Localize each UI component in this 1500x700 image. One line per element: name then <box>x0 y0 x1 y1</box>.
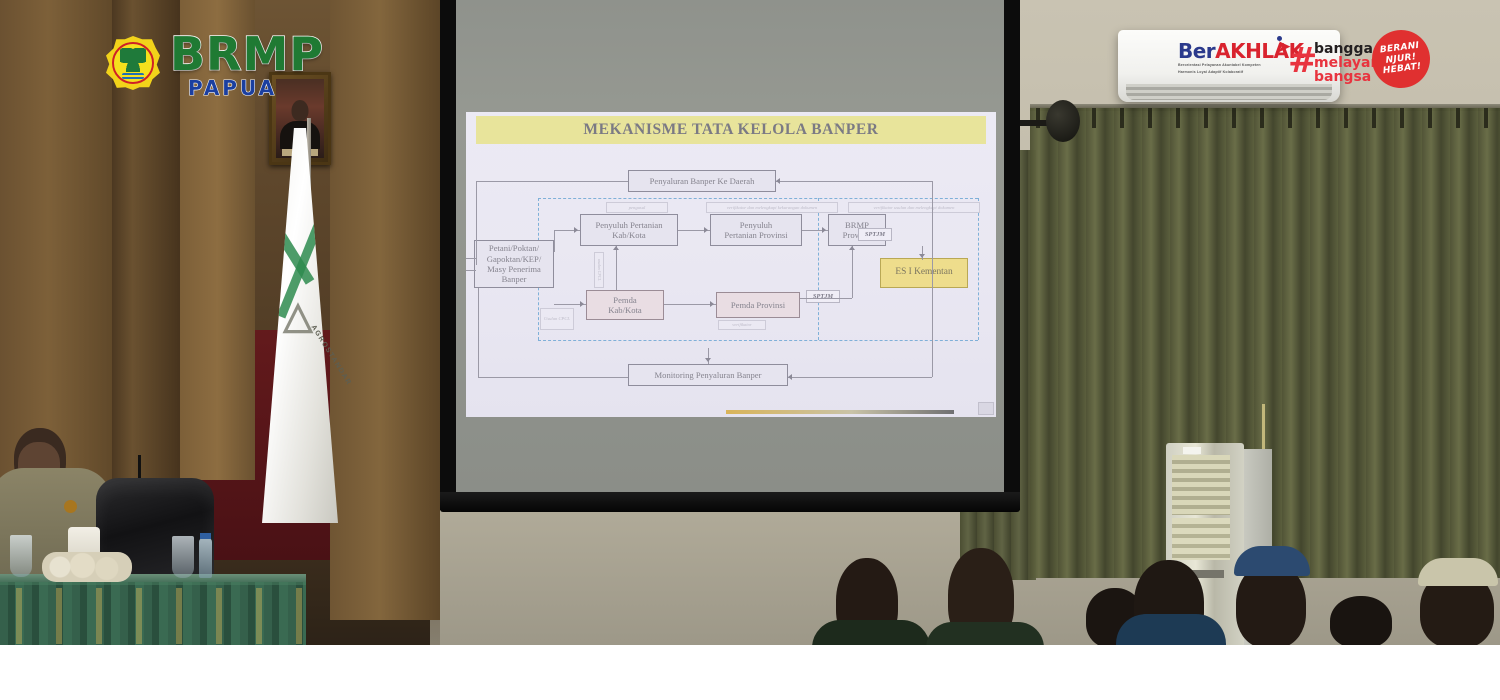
audience-cap-blue <box>1234 546 1310 576</box>
portrait-head <box>292 100 309 121</box>
arrow-to-penyuluh-kab <box>574 227 578 233</box>
screenshot-root: △ AGROSTANDAR MEKANISME TATA KELOLA BANP… <box>0 0 1500 700</box>
audience-head-7 <box>1330 596 1392 645</box>
standing-ac-sticker <box>1183 447 1201 454</box>
line-into-petani-2 <box>466 270 476 271</box>
flower-arrangement <box>42 552 132 582</box>
wood-panel-right <box>330 0 440 620</box>
dashed-divider-center <box>818 198 819 340</box>
line-into-petani <box>466 258 476 259</box>
line-pemda-kab-to-prov <box>664 304 716 305</box>
line-left-to-penyaluran <box>476 181 628 182</box>
note-usulan-cpcl: Usulan CPCL <box>540 308 574 330</box>
audience-body-1 <box>812 620 930 645</box>
water-bottle <box>199 538 212 578</box>
tag-sptjm-brmp: SPTJM <box>858 228 892 241</box>
line-left-down <box>476 181 477 265</box>
line-pemda-up-to-penyuluh <box>616 246 617 290</box>
logo-water-icon <box>122 73 144 79</box>
arrow-to-pemda-prov <box>710 301 714 307</box>
berakhlak-badge: BerAKHLAK ➤ Berorientasi Pelayanan Akunt… <box>1178 41 1284 81</box>
water-bottle-cap <box>200 533 211 539</box>
slide-title: MEKANISME TATA KELOLA BANPER <box>583 121 878 139</box>
table-cloth-motif <box>0 588 306 644</box>
uniform-badge <box>64 500 77 513</box>
arrow-into-monitoring-right <box>788 374 792 380</box>
footer-bar: AGRO MODERN Pertanian Bekerja Sepenuh Ha… <box>0 645 1500 700</box>
wall-fan-icon <box>1046 100 1080 142</box>
note-usulan-cpcl-vertical: usulan CPCL <box>594 252 604 288</box>
line-up-to-brmp <box>852 246 853 298</box>
arrow-to-penyuluh-prov <box>704 227 708 233</box>
diagram-box-es1-kementan: ES I Kementan <box>880 258 968 288</box>
slide-corner-button <box>978 402 994 415</box>
arrow-into-brmp <box>849 246 855 250</box>
line-bottom-left <box>478 377 628 378</box>
ministry-agriculture-logo-icon <box>106 36 160 90</box>
slide-accent-bar <box>726 410 954 414</box>
line-right-down <box>932 181 933 377</box>
presentation-slide: MEKANISME TATA KELOLA BANPER Penyaluran … <box>466 112 996 417</box>
audience-cap-beige <box>1418 558 1498 586</box>
arrow-into-es1 <box>919 254 925 258</box>
audience-body-2 <box>926 622 1044 645</box>
line-bottom-right <box>788 377 932 378</box>
brand-subtitle: PAPUA <box>188 76 277 100</box>
berakhlak-wordmark: BerAKHLAK ➤ <box>1178 41 1284 61</box>
berakhlak-prefix: Ber <box>1178 39 1215 63</box>
diagram-box-monitoring: Monitoring Penyaluran Banper <box>628 364 788 386</box>
berakhlak-values-line2: Harmonis Loyal Adaptif Kolaboratif <box>1178 70 1284 75</box>
drinking-glass-right <box>172 536 194 578</box>
note-verifikator: verifikator <box>718 320 766 330</box>
standing-ac-grill-bottom <box>1172 518 1230 560</box>
standing-ac-grill-top <box>1172 455 1230 515</box>
bangga-melayani-bangsa-badge: # bangga melayani bangsa <box>1288 36 1380 86</box>
line-petani-up <box>554 230 555 252</box>
berakhlak-dot-icon <box>1277 36 1282 41</box>
bangga-line3: bangsa <box>1314 70 1371 84</box>
line-pemda-prov-to-brmp <box>800 298 852 299</box>
arrow-to-pemda-kab <box>580 301 584 307</box>
curtain-rings <box>1030 108 1500 128</box>
diagram-box-pemda-provinsi: Pemda Provinsi <box>716 292 800 318</box>
drinking-glass-left <box>10 535 32 577</box>
diagram-box-petani: Petani/Poktan/ Gapoktan/KEP/ Masy Peneri… <box>474 240 554 288</box>
diagram-box-penyaluran: Penyaluran Banper Ke Daerah <box>628 170 776 192</box>
ac-power-cord <box>1262 404 1265 452</box>
projection-screen-base <box>440 492 1020 512</box>
diagram-box-penyuluh-provinsi: Penyuluh Pertanian Provinsi <box>710 214 802 246</box>
line-left-to-monitoring <box>478 288 479 377</box>
note-verifikator-usulan: verifikator usulan dan melengkapi dokume… <box>848 202 980 213</box>
arrow-into-penyaluran <box>776 178 780 184</box>
arrow-pemda-up <box>613 246 619 250</box>
note-verifikator-dokumen: verifikator dan melengkapi kekurangan do… <box>706 202 838 213</box>
line-penyaluran-right <box>776 181 932 182</box>
bangga-line1: bangga <box>1314 42 1373 56</box>
diagram-box-penyuluh-kabkota: Penyuluh Pertanian Kab/Kota <box>580 214 678 246</box>
tag-sptjm-pemda: SPTJM <box>806 290 840 303</box>
note-pengusul: pengusul <box>606 202 668 213</box>
berakhlak-values-line1: Berorientasi Pelayanan Akuntabel Kompete… <box>1178 63 1284 68</box>
arrow-into-monitoring-top <box>705 358 711 362</box>
brand-title: BRMP <box>170 31 324 77</box>
dashed-border-bottom <box>538 340 978 341</box>
dashed-border-top <box>538 198 978 199</box>
agrostandar-logo-icon: △ <box>278 290 318 342</box>
diagram-box-pemda-kabkota: Pemda Kab/Kota <box>586 290 664 320</box>
audience-body-4 <box>1116 614 1226 645</box>
hash-icon: # <box>1288 44 1317 79</box>
berakhlak-arrow-icon: ➤ <box>1277 39 1288 55</box>
logo-plant-leaves <box>120 48 146 72</box>
slide-title-band: MEKANISME TATA KELOLA BANPER <box>476 116 986 144</box>
air-conditioner-vent <box>1126 84 1332 100</box>
arrow-to-brmp <box>822 227 826 233</box>
dashed-border-right <box>978 198 979 340</box>
